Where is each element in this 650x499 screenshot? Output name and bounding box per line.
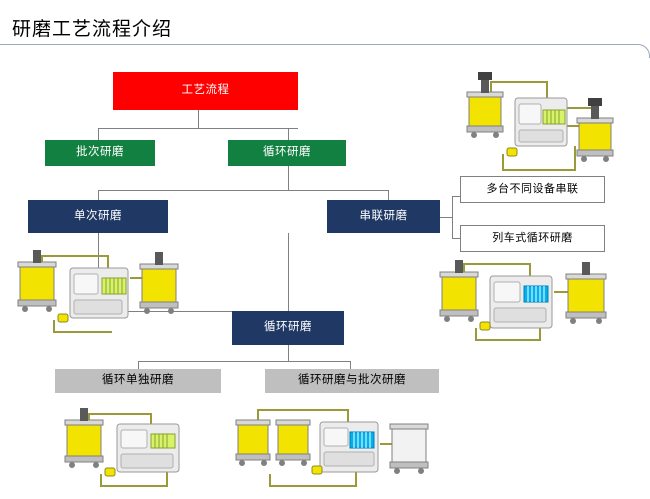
connector-to-circ-with-batch [350,361,351,369]
connector-to-batch [98,128,99,140]
connector-series-notes-riser [452,196,453,238]
slide-canvas: 研磨工艺流程介绍 工艺流程 批次研磨 循环研磨 单次研磨 串联研磨 多台不同设备… [0,0,650,499]
connector-circulation2-down [288,345,289,361]
mill-setup-circulation-alone [55,408,230,496]
connector-to-circulation [288,128,289,140]
title-divider-corner [636,44,650,58]
connector-root-split [98,128,298,129]
connector-circulation-down [288,166,289,190]
connector-series-out [440,217,452,218]
node-circulation-with-batch[interactable]: 循环研磨与批次研磨 [265,369,439,393]
title-divider [0,44,636,45]
connector-circulation2-in [288,300,289,311]
mill-setup-circulation-with-batch [228,400,448,496]
node-process-flow[interactable]: 工艺流程 [113,72,298,110]
node-circulation-milling-2[interactable]: 循环研磨 [232,311,344,345]
mill-setup-series [430,258,630,350]
connector-to-single-pass [98,190,99,200]
note-train-circulation[interactable]: 列车式循环研磨 [460,225,605,252]
node-single-pass-milling[interactable]: 单次研磨 [28,200,168,233]
connector-series-note2 [452,238,460,239]
node-batch-milling[interactable]: 批次研磨 [45,140,155,166]
node-series-milling[interactable]: 串联研磨 [327,200,440,233]
node-circulation-milling[interactable]: 循环研磨 [228,140,346,166]
mill-setup-top-right [455,62,640,177]
connector-circulation-split [98,190,388,191]
node-circulation-alone[interactable]: 循环单独研磨 [55,369,221,393]
connector-bottom-split [138,361,350,362]
page-title: 研磨工艺流程介绍 [12,14,172,41]
mill-setup-single-pass [8,248,203,343]
note-multi-device-series[interactable]: 多台不同设备串联 [460,176,605,203]
connector-to-series [388,190,389,200]
connector-series-note1 [452,196,460,197]
connector-root-down [198,110,199,128]
connector-to-circ-alone [138,361,139,369]
